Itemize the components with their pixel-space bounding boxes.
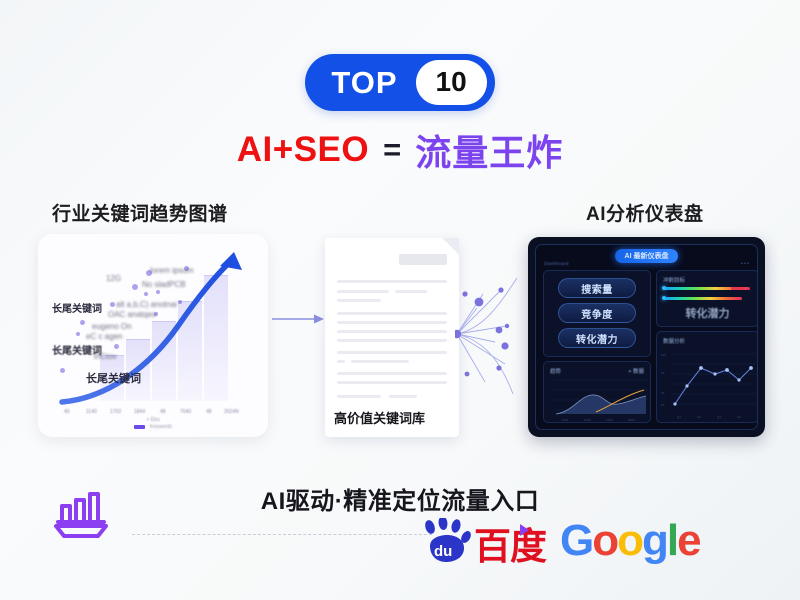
google-letter: g xyxy=(642,516,667,565)
chart-blur-label: alt a,b,C) anotnai xyxy=(116,300,177,309)
chart-blur-label: eC c agen xyxy=(86,332,122,341)
document-text-line xyxy=(337,360,345,363)
document-text-line xyxy=(337,330,447,333)
ai-dashboard-panel: AI 最新仪表盘 Dashboard • • • 搜索量 竞争度 转化潜力 趋势… xyxy=(528,237,765,437)
chart-blur-label: OAC anatqes xyxy=(108,310,156,319)
document-text-line xyxy=(337,372,447,375)
metric-pill-competition[interactable]: 竞争度 xyxy=(558,303,636,323)
chart-x-tick: 7040 xyxy=(180,409,191,415)
keyword-trend-chart-card: lorem ipsum No sladPCB alt a,b,C) anotna… xyxy=(38,234,268,437)
chart-node-dot xyxy=(144,292,148,296)
top-badge-number: 10 xyxy=(416,60,487,105)
chart-x-tick: 40 xyxy=(64,409,70,415)
google-letter: o xyxy=(617,516,642,565)
document-text-line xyxy=(395,290,427,293)
dashboard-gauge-panel: 冲刺目标 转化潜力 xyxy=(656,270,758,327)
document-card-label: 高价值关键词库 xyxy=(334,408,425,427)
metric-pill-search-volume[interactable]: 搜索量 xyxy=(558,278,636,298)
document-text-line xyxy=(337,321,447,324)
document-text-line xyxy=(337,299,381,302)
chart-node-dot xyxy=(114,344,119,349)
svg-text:Q1: Q1 xyxy=(677,415,681,419)
document-text-line xyxy=(337,280,447,283)
google-letter: G xyxy=(560,516,592,565)
chart-x-tick: 48 xyxy=(160,409,166,415)
google-logo: Google xyxy=(560,519,700,563)
svg-text:Q3: Q3 xyxy=(717,415,721,419)
svg-text:1701: 1701 xyxy=(562,418,569,422)
dashboard-title-badge: AI 最新仪表盘 xyxy=(615,249,679,263)
chart-growth-arrow xyxy=(38,234,268,437)
document-fold-corner xyxy=(442,238,459,255)
document-text-line xyxy=(337,312,447,315)
svg-text:2024: 2024 xyxy=(628,418,635,422)
gauge-bar-secondary xyxy=(664,297,742,300)
gauge-marker-dot xyxy=(662,296,666,300)
google-letter: e xyxy=(677,516,699,565)
document-text-line xyxy=(337,339,447,342)
chart-node-dot xyxy=(60,368,65,373)
document-text-line xyxy=(337,290,389,293)
line-chart-graphic: 10060 3010 Q1Q2 Q3Q4 xyxy=(657,332,758,424)
google-letter: l xyxy=(667,516,677,565)
svg-text:60: 60 xyxy=(661,371,665,375)
document-text-line xyxy=(337,381,447,384)
chart-x-tick: 2024N xyxy=(224,409,239,415)
title-part-traffic: 流量王炸 xyxy=(415,124,563,176)
bar-chart-pedestal-icon xyxy=(46,484,124,546)
chart-x-tick: 1140 xyxy=(86,409,97,415)
chart-legend: Keywords xyxy=(38,424,268,430)
node-network-connector xyxy=(455,268,535,398)
metric-pill-conversion[interactable]: 转化潜力 xyxy=(558,328,636,348)
chart-blur-label: lorem ipsum xyxy=(150,266,194,275)
search-engine-brands: du 百度 Google xyxy=(420,518,700,564)
dashboard-metrics-panel: 搜索量 竞争度 转化潜力 xyxy=(543,270,651,357)
baidu-paw-icon: du xyxy=(420,518,472,564)
google-letter: o xyxy=(592,516,617,565)
gauge-panel-title: 冲刺目标 xyxy=(663,276,685,284)
chart-node-dot xyxy=(156,290,160,294)
svg-text:Q4: Q4 xyxy=(737,415,741,419)
chart-node-dot xyxy=(178,300,182,304)
document-header-block xyxy=(399,254,447,265)
chart-node-dot xyxy=(80,320,85,325)
chart-keyword-label: 长尾关键词 xyxy=(52,342,102,357)
svg-text:du: du xyxy=(434,543,452,560)
chart-plot-area: lorem ipsum No sladPCB alt a,b,C) anotna… xyxy=(38,234,268,437)
svg-text:10: 10 xyxy=(661,403,665,407)
title-equals-sign: = xyxy=(383,132,401,168)
footer-divider xyxy=(132,534,432,535)
area-chart-graphic: 17011702 17032024 xyxy=(544,362,652,424)
play-triangle-icon xyxy=(520,524,529,536)
chart-node-dot xyxy=(110,302,115,307)
chart-blur-label: eugeno On xyxy=(92,322,132,331)
chart-keyword-label: 长尾关键词 xyxy=(52,300,102,315)
gauge-threshold-marker xyxy=(731,287,744,290)
svg-text:Q2: Q2 xyxy=(697,415,701,419)
dashboard-inner-frame: AI 最新仪表盘 Dashboard • • • 搜索量 竞争度 转化潜力 趋势… xyxy=(535,244,758,430)
chart-x-tick: 48 xyxy=(206,409,212,415)
chart-legend-swatch xyxy=(134,425,145,429)
top-badge-label: TOP xyxy=(331,67,415,98)
chart-x-axis-caption: + Ebu xyxy=(38,417,268,423)
flow-arrow-left xyxy=(272,312,324,326)
chart-x-tick: 1702 xyxy=(110,409,121,415)
dashboard-menu-icon[interactable]: • • • xyxy=(741,261,749,267)
chart-keyword-label: 长尾关键词 xyxy=(86,370,141,386)
chart-blur-label: 12G xyxy=(106,274,121,283)
dashboard-line-chart-panel: 数据分析 10060 xyxy=(656,331,758,423)
keyword-library-document-card: 高价值关键词库 xyxy=(325,238,459,437)
dashboard-subtitle: Dashboard xyxy=(544,261,569,266)
title-part-ai-seo: AI+SEO xyxy=(237,130,369,170)
baidu-wordmark: 百度 xyxy=(474,529,546,564)
svg-text:100: 100 xyxy=(661,353,666,357)
document-text-line xyxy=(351,360,409,363)
chart-legend-label: Keywords xyxy=(150,424,172,430)
top-badge: TOP 10 xyxy=(305,54,494,111)
top-badge-container: TOP 10 xyxy=(0,54,800,111)
svg-text:30: 30 xyxy=(661,391,665,395)
chart-node-dot xyxy=(76,332,80,336)
document-text-line xyxy=(337,351,447,354)
page-title: AI+SEO = 流量王炸 xyxy=(0,124,800,176)
document-text-line xyxy=(389,395,417,398)
chart-x-tick: 1844 xyxy=(134,409,145,415)
svg-text:1702: 1702 xyxy=(584,418,591,422)
svg-text:1703: 1703 xyxy=(606,418,613,422)
gauge-overlay-label: 转化潜力 xyxy=(657,305,758,321)
document-text-line xyxy=(337,395,381,398)
left-section-heading: 行业关键词趋势图谱 xyxy=(52,199,228,226)
gauge-marker-dot xyxy=(662,286,666,290)
chart-node-dot xyxy=(132,284,138,290)
right-section-heading: AI分析仪表盘 xyxy=(586,199,704,226)
dashboard-area-chart-panel: 趋势 + 数据 17011702 17032024 xyxy=(543,361,651,423)
chart-blur-label: No sladPCB xyxy=(142,280,186,289)
